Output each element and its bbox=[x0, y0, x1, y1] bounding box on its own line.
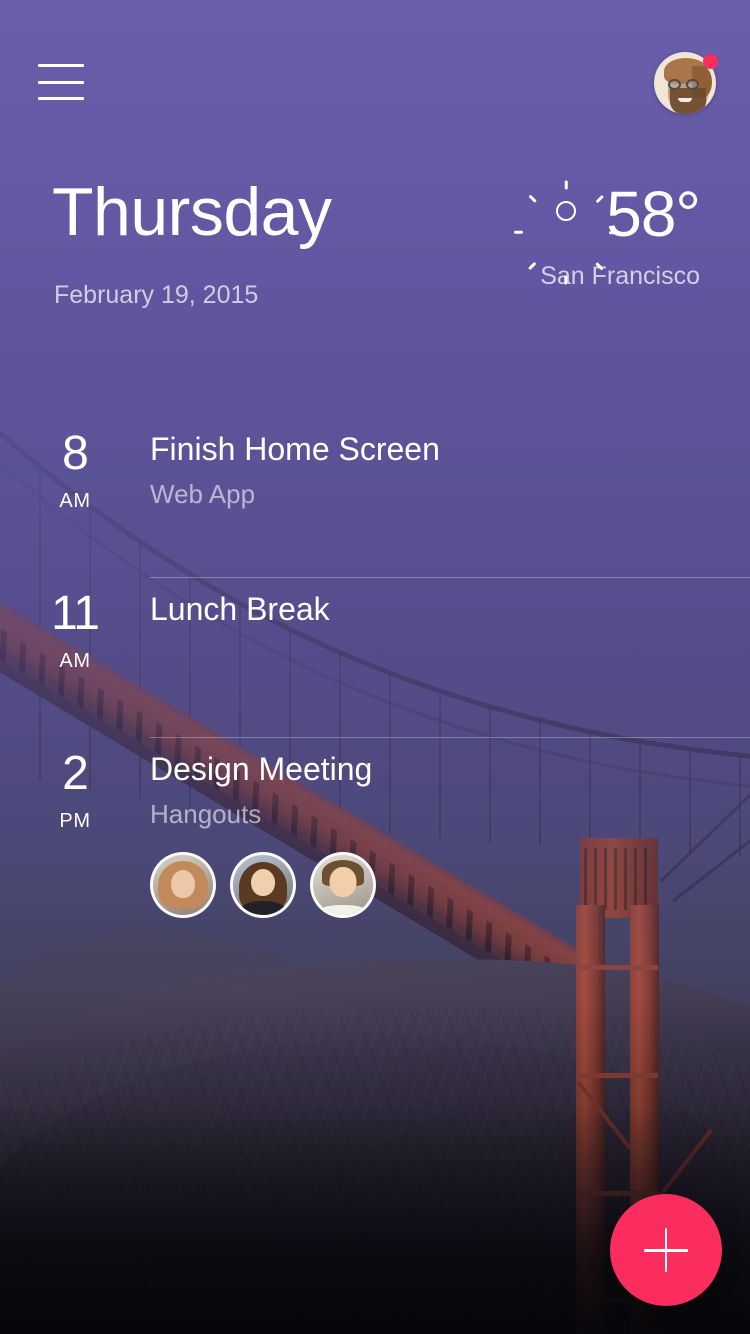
ui-layer: Thursday February 19, 2015 5 bbox=[0, 0, 750, 1334]
event-hour: 8 bbox=[0, 430, 150, 478]
agenda-event-row[interactable]: 2 PM Design Meeting Hangouts bbox=[0, 738, 750, 953]
attendee-avatar-2[interactable] bbox=[230, 852, 296, 918]
weather-widget[interactable]: 58° San Francisco bbox=[540, 182, 700, 291]
event-title: Design Meeting bbox=[150, 752, 710, 788]
event-hour: 2 bbox=[0, 750, 150, 798]
user-avatar[interactable] bbox=[654, 52, 716, 114]
event-subtitle: Hangouts bbox=[150, 800, 710, 829]
attendee-avatar-1[interactable] bbox=[150, 852, 216, 918]
event-subtitle: Web App bbox=[150, 480, 710, 509]
agenda-event-row[interactable]: 8 AM Finish Home Screen Web App bbox=[0, 418, 750, 578]
event-title: Lunch Break bbox=[150, 592, 710, 628]
plus-icon-vertical bbox=[665, 1228, 668, 1272]
attendee-avatar-group bbox=[150, 852, 710, 918]
event-ampm: AM bbox=[0, 490, 150, 513]
event-time: 8 AM bbox=[0, 418, 150, 578]
agenda-event-row[interactable]: 11 AM Lunch Break bbox=[0, 578, 750, 738]
event-time: 11 AM bbox=[0, 578, 150, 738]
event-body: Lunch Break bbox=[150, 578, 710, 738]
hamburger-menu-icon[interactable] bbox=[28, 52, 94, 112]
home-screen: Thursday February 19, 2015 5 bbox=[0, 0, 750, 1334]
attendee-avatar-3[interactable] bbox=[310, 852, 376, 918]
agenda-list: 8 AM Finish Home Screen Web App 11 AM Lu… bbox=[0, 418, 750, 953]
event-body: Finish Home Screen Web App bbox=[150, 418, 710, 578]
event-hour: 11 bbox=[0, 590, 150, 638]
top-bar bbox=[0, 0, 750, 165]
event-ampm: PM bbox=[0, 810, 150, 833]
event-time: 2 PM bbox=[0, 738, 150, 953]
full-date: February 19, 2015 bbox=[54, 283, 258, 308]
sun-icon bbox=[540, 185, 592, 237]
event-title: Finish Home Screen bbox=[150, 432, 710, 468]
event-ampm: AM bbox=[0, 650, 150, 673]
notification-badge-dot bbox=[703, 54, 718, 69]
date-weather-row: Thursday February 19, 2015 5 bbox=[0, 178, 750, 318]
temperature-value: 58° bbox=[606, 182, 700, 246]
event-body: Design Meeting Hangouts bbox=[150, 738, 710, 953]
add-event-fab[interactable] bbox=[610, 1194, 722, 1306]
day-title: Thursday bbox=[52, 178, 331, 246]
